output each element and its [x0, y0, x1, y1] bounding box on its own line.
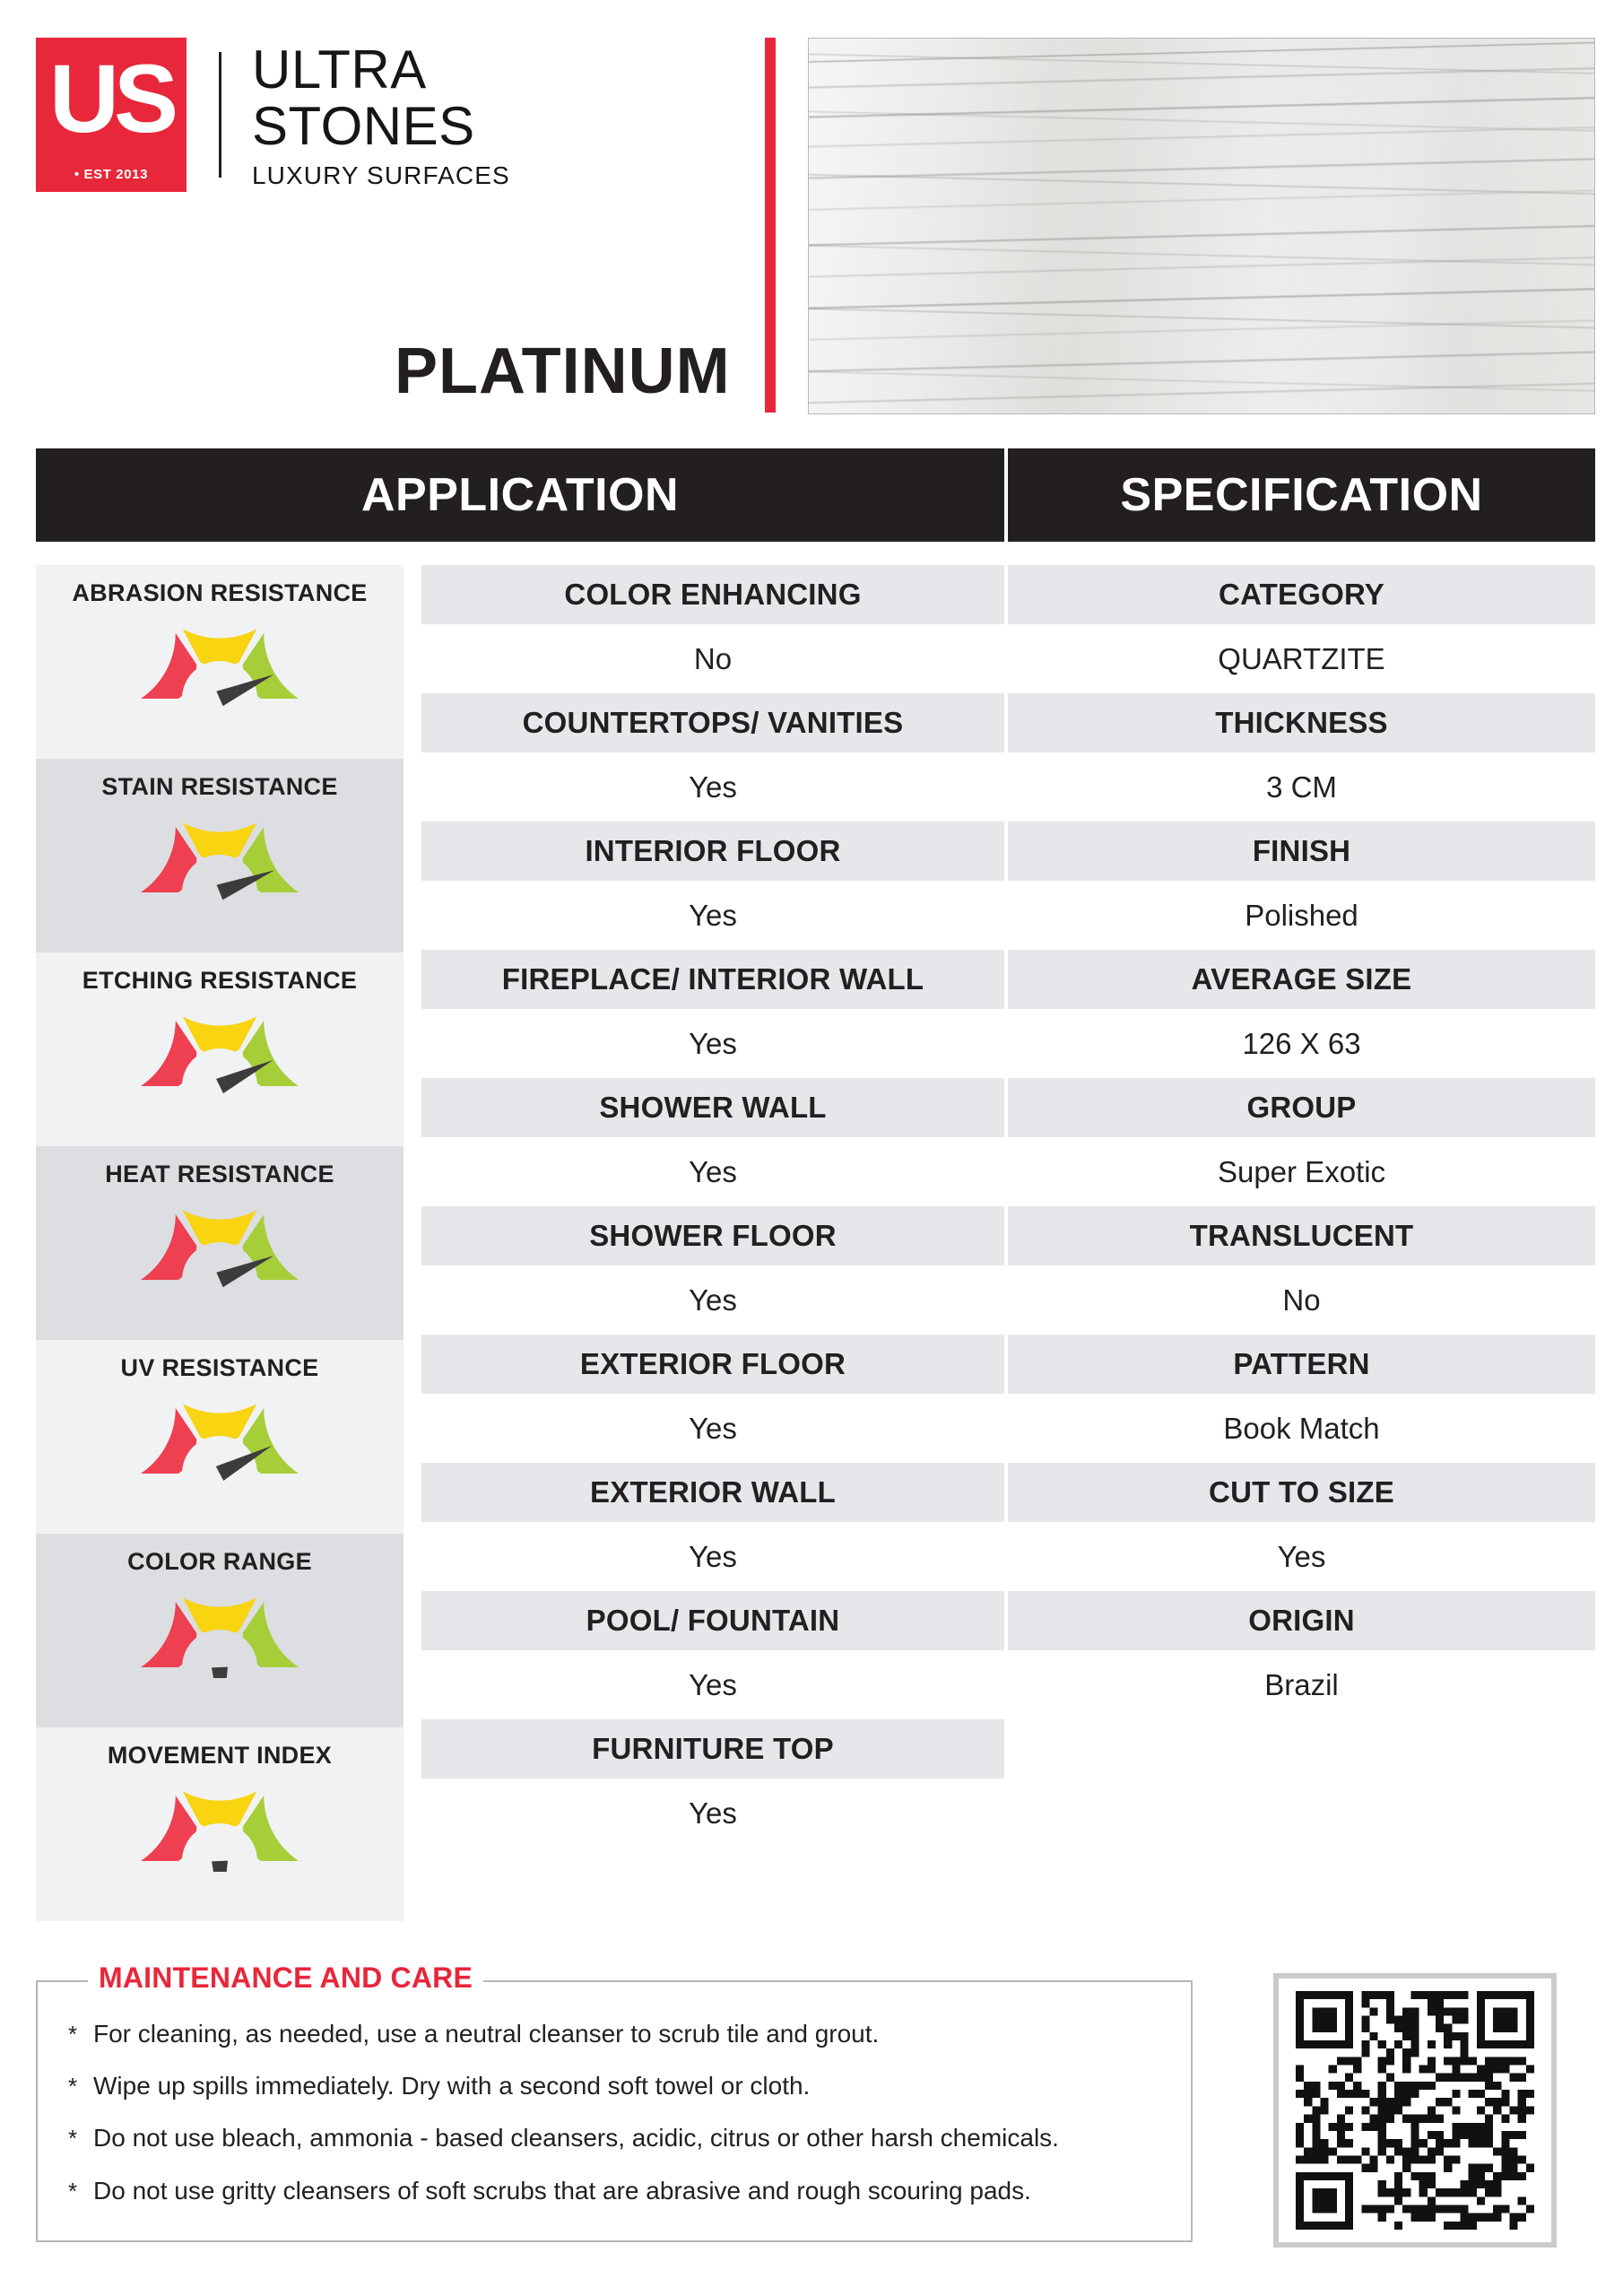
gauge-needle: [212, 1861, 228, 1872]
maintenance-item: *Wipe up spills immediately. Dry with a …: [68, 2072, 1160, 2100]
gauge-icon: [130, 996, 309, 1097]
maintenance-title: MAINTENANCE AND CARE: [88, 1963, 483, 1992]
table-row-label: AVERAGE SIZE: [1008, 950, 1595, 1009]
gauge-row: UV RESISTANCE: [36, 1340, 404, 1534]
bullet-icon: *: [68, 2126, 93, 2152]
gauge-label: ABRASION RESISTANCE: [72, 579, 367, 607]
table-row-label: COLOR ENHANCING: [421, 565, 1004, 624]
gauge-row: ABRASION RESISTANCE: [36, 565, 404, 759]
table-row-label: EXTERIOR WALL: [421, 1463, 1004, 1522]
gauge-row: MOVEMENT INDEX: [36, 1727, 404, 1921]
maintenance-list: *For cleaning, as needed, use a neutral …: [68, 2020, 1160, 2205]
gauge-row: ETCHING RESISTANCE: [36, 952, 404, 1146]
gauge-icon: [130, 803, 309, 903]
gauge-icon: [130, 1771, 309, 1872]
table-row-value: Yes: [421, 1394, 1004, 1463]
maintenance-item: *For cleaning, as needed, use a neutral …: [68, 2020, 1160, 2048]
table-row-value: Yes: [421, 752, 1004, 822]
qr-code[interactable]: [1273, 1973, 1557, 2248]
page-header: US • EST 2013 ULTRA STONES LUXURY SURFAC…: [0, 0, 1623, 439]
table-row-value: 126 X 63: [1008, 1009, 1595, 1078]
table-row-value: Yes: [421, 1265, 1004, 1335]
gauge-icon: [130, 609, 309, 709]
maintenance-item: *Do not use gritty cleansers of soft scr…: [68, 2177, 1160, 2205]
gauge-row: COLOR RANGE: [36, 1534, 404, 1727]
table-row-label: GROUP: [1008, 1078, 1595, 1137]
spec-sheet-page: US • EST 2013 ULTRA STONES LUXURY SURFAC…: [0, 0, 1623, 2296]
gauge-label: STAIN RESISTANCE: [101, 773, 337, 801]
table-row-value: Yes: [1008, 1522, 1595, 1591]
maintenance-item-text: Do not use bleach, ammonia - based clean…: [93, 2124, 1059, 2152]
table-row-value: Book Match: [1008, 1394, 1595, 1463]
section-header-application: APPLICATION: [36, 448, 1004, 542]
logo-monogram: US: [36, 50, 187, 147]
gauge-label: UV RESISTANCE: [121, 1354, 319, 1382]
slab-image: [808, 38, 1595, 414]
table-row-label: THICKNESS: [1008, 693, 1595, 752]
gauge-label: HEAT RESISTANCE: [105, 1161, 334, 1188]
table-row-label: POOL/ FOUNTAIN: [421, 1591, 1004, 1650]
title-accent-bar: [765, 38, 776, 413]
gauge-needle: [212, 1667, 228, 1678]
application-table: COLOR ENHANCINGNoCOUNTERTOPS/ VANITIESYe…: [421, 565, 1004, 1848]
brand-logo: US • EST 2013 ULTRA STONES LUXURY SURFAC…: [36, 38, 510, 192]
gauge-icon: [130, 1384, 309, 1484]
logo-established: • EST 2013: [36, 167, 187, 182]
table-row-value: Yes: [421, 1650, 1004, 1719]
maintenance-item-text: Wipe up spills immediately. Dry with a s…: [93, 2072, 810, 2100]
gauge-row: STAIN RESISTANCE: [36, 759, 404, 952]
maintenance-item: *Do not use bleach, ammonia - based clea…: [68, 2124, 1160, 2152]
table-row-label: TRANSLUCENT: [1008, 1206, 1595, 1265]
brand-name-line1: ULTRA: [252, 41, 510, 98]
table-row-label: COUNTERTOPS/ VANITIES: [421, 693, 1004, 752]
table-row-label: CATEGORY: [1008, 565, 1595, 624]
table-row-label: ORIGIN: [1008, 1591, 1595, 1650]
gauge-icon: [130, 1190, 309, 1291]
table-row-label: INTERIOR FLOOR: [421, 822, 1004, 881]
slab-texture: [809, 39, 1594, 413]
logo-divider: [219, 52, 221, 178]
section-header-specification: SPECIFICATION: [1008, 448, 1595, 542]
table-row-label: FIREPLACE/ INTERIOR WALL: [421, 950, 1004, 1009]
table-row-label: EXTERIOR FLOOR: [421, 1335, 1004, 1394]
gauge-label: MOVEMENT INDEX: [108, 1742, 332, 1770]
table-row-value: QUARTZITE: [1008, 624, 1595, 693]
table-row-value: Super Exotic: [1008, 1137, 1595, 1206]
bullet-icon: *: [68, 2074, 93, 2100]
maintenance-item-text: Do not use gritty cleansers of soft scru…: [93, 2177, 1031, 2205]
table-row-value: No: [421, 624, 1004, 693]
table-row-label: CUT TO SIZE: [1008, 1463, 1595, 1522]
brand-wordmark: ULTRA STONES LUXURY SURFACES: [252, 41, 510, 188]
bullet-icon: *: [68, 2022, 93, 2048]
brand-tagline: LUXURY SURFACES: [252, 163, 510, 188]
table-row-value: Yes: [421, 1779, 1004, 1848]
table-row-value: No: [1008, 1265, 1595, 1335]
table-row-value: Yes: [421, 1137, 1004, 1206]
qr-code-graphic: [1291, 1991, 1539, 2230]
table-row-label: SHOWER FLOOR: [421, 1206, 1004, 1265]
gauge-label: ETCHING RESISTANCE: [82, 967, 357, 995]
brand-name-line2: STONES: [252, 98, 510, 154]
table-row-label: FINISH: [1008, 822, 1595, 881]
us-logo-mark: US • EST 2013: [36, 38, 187, 192]
table-row-label: PATTERN: [1008, 1335, 1595, 1394]
table-row-value: Polished: [1008, 881, 1595, 950]
gauge-icon: [130, 1578, 309, 1678]
specification-table: CATEGORYQUARTZITETHICKNESS3 CMFINISHPoli…: [1008, 565, 1595, 1719]
maintenance-panel: MAINTENANCE AND CARE *For cleaning, as n…: [36, 1980, 1193, 2242]
table-row-value: Brazil: [1008, 1650, 1595, 1719]
table-row-value: Yes: [421, 881, 1004, 950]
property-gauge-column: ABRASION RESISTANCESTAIN RESISTANCEETCHI…: [36, 565, 404, 1921]
table-row-value: Yes: [421, 1522, 1004, 1591]
gauge-label: COLOR RANGE: [127, 1548, 312, 1576]
table-row-label: SHOWER WALL: [421, 1078, 1004, 1137]
table-row-value: Yes: [421, 1009, 1004, 1078]
maintenance-item-text: For cleaning, as needed, use a neutral c…: [93, 2020, 879, 2048]
table-row-label: FURNITURE TOP: [421, 1719, 1004, 1779]
table-row-value: 3 CM: [1008, 752, 1595, 822]
gauge-row: HEAT RESISTANCE: [36, 1146, 404, 1340]
bullet-icon: *: [68, 2179, 93, 2205]
